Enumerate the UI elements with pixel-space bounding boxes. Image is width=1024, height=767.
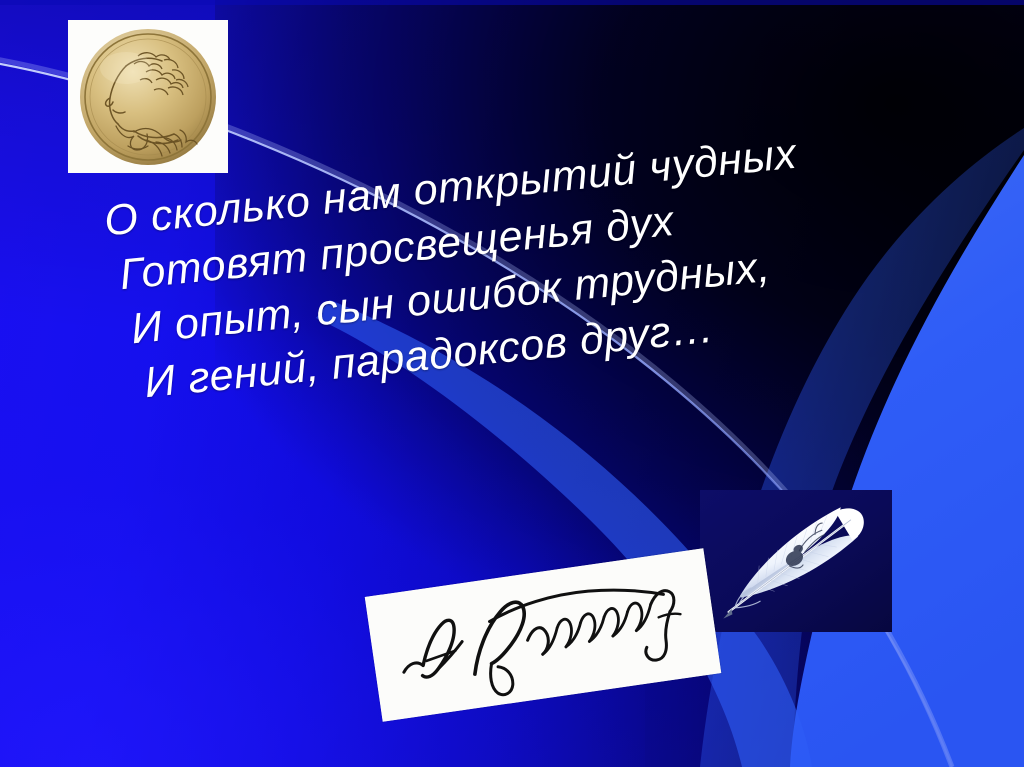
coin-graphic [68, 20, 228, 173]
coin-image [68, 20, 228, 173]
slide-canvas: О сколько нам открытий чудных Готовят пр… [0, 0, 1024, 767]
feather-graphic [700, 490, 892, 632]
quill-feather-image [700, 490, 892, 632]
